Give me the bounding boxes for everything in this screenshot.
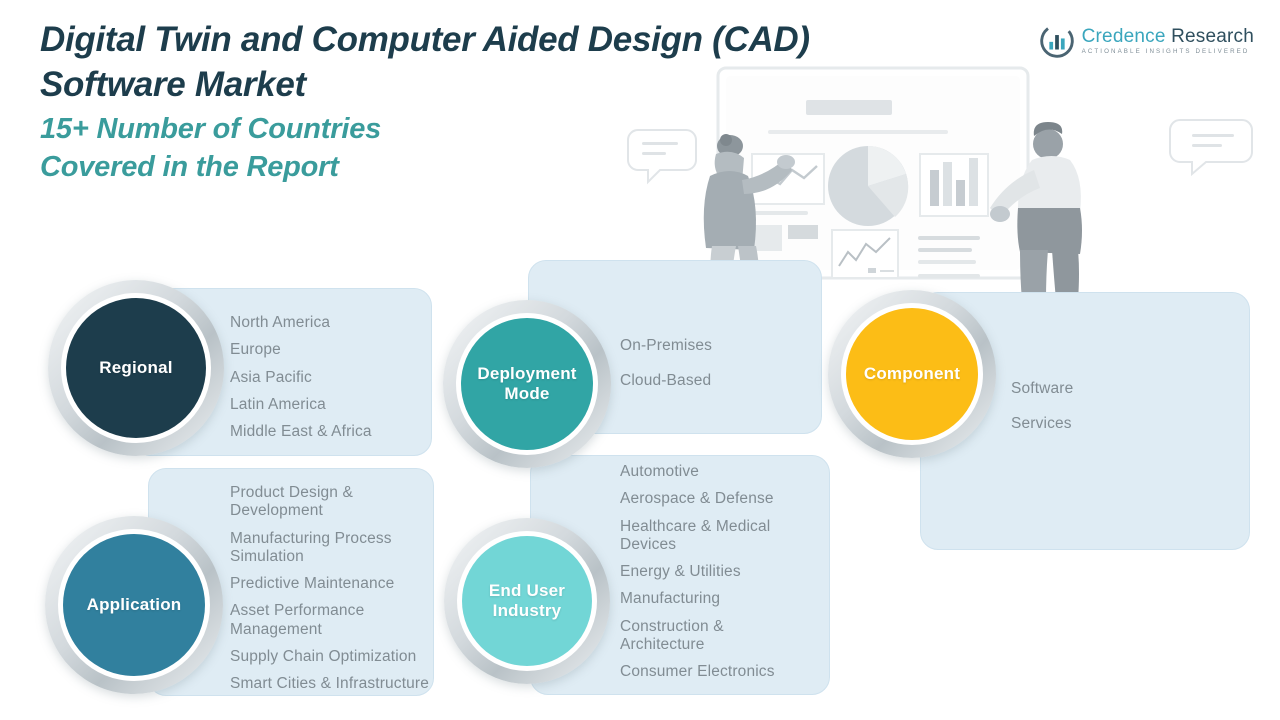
- list-item: Europe: [230, 341, 430, 359]
- list-item: Aerospace & Defense: [620, 490, 810, 508]
- logo-tagline: Actionable Insights Delivered: [1082, 49, 1254, 55]
- segment-label-deployment-mode: Deployment Mode: [477, 364, 576, 405]
- list-item: Middle East & Africa: [230, 423, 430, 441]
- subtitle-line-2: Covered in the Report: [40, 148, 1040, 186]
- segment-label-line-1: Deployment: [477, 364, 576, 383]
- list-item: Asset Performance Management: [230, 602, 380, 639]
- segment-label-line-2: Mode: [504, 384, 549, 403]
- logo-name-primary: Credence: [1082, 26, 1166, 47]
- speech-bubble-right: [1170, 120, 1252, 174]
- title-line-2: Software Market: [40, 63, 1040, 108]
- segment-label-application: Application: [87, 595, 182, 615]
- list-item: North America: [230, 314, 430, 332]
- list-item: Smart Cities & Infrastructure: [230, 675, 452, 693]
- list-item: Cloud-Based: [620, 372, 820, 390]
- list-item: Latin America: [230, 396, 430, 414]
- list-deployment-mode: On-Premises Cloud-Based: [620, 337, 820, 400]
- segment-circle-regional[interactable]: Regional: [48, 280, 224, 456]
- list-item: Services: [1011, 415, 1211, 433]
- subtitle-line-1: 15+ Number of Countries: [40, 110, 1040, 148]
- list-item: Consumer Electronics: [620, 663, 810, 681]
- logo-name-secondary: Research: [1171, 26, 1254, 47]
- infographic-canvas: Digital Twin and Computer Aided Design (…: [0, 0, 1280, 720]
- list-regional: North America Europe Asia Pacific Latin …: [230, 314, 430, 450]
- list-item: Automotive: [620, 463, 810, 481]
- segment-circle-end-user-industry[interactable]: End User Industry: [444, 518, 610, 684]
- segment-label-end-user-industry: End User Industry: [489, 581, 565, 622]
- chart-bars-logo-icon: [1040, 24, 1074, 58]
- list-application: Product Design & Development Manufacturi…: [230, 484, 452, 703]
- segment-circle-application[interactable]: Application: [45, 516, 223, 694]
- segment-label-line-2: Industry: [493, 601, 562, 620]
- segment-circle-deployment-mode[interactable]: Deployment Mode: [443, 300, 611, 468]
- page-title: Digital Twin and Computer Aided Design (…: [40, 18, 1040, 186]
- list-item: On-Premises: [620, 337, 820, 355]
- list-item: Manufacturing: [620, 590, 810, 608]
- list-component: Software Services: [1011, 380, 1211, 443]
- list-item: Product Design & Development: [230, 484, 380, 521]
- list-item: Energy & Utilities: [620, 563, 810, 581]
- segment-label-regional: Regional: [99, 358, 172, 378]
- list-item: Software: [1011, 380, 1211, 398]
- list-item: Manufacturing Process Simulation: [230, 530, 410, 567]
- brand-logo: Credence Research Actionable Insights De…: [1040, 24, 1254, 58]
- list-end-user-industry: Automotive Aerospace & Defense Healthcar…: [620, 463, 820, 691]
- list-item: Asia Pacific: [230, 369, 430, 387]
- list-item: Supply Chain Optimization: [230, 648, 452, 666]
- segment-circle-component[interactable]: Component: [828, 290, 996, 458]
- list-item: Predictive Maintenance: [230, 575, 450, 593]
- segment-label-component: Component: [864, 364, 960, 384]
- list-item: Healthcare & Medical Devices: [620, 518, 800, 555]
- list-item: Construction & Architecture: [620, 618, 740, 655]
- title-line-1: Digital Twin and Computer Aided Design (…: [40, 18, 1040, 63]
- segment-label-line-1: End User: [489, 581, 565, 600]
